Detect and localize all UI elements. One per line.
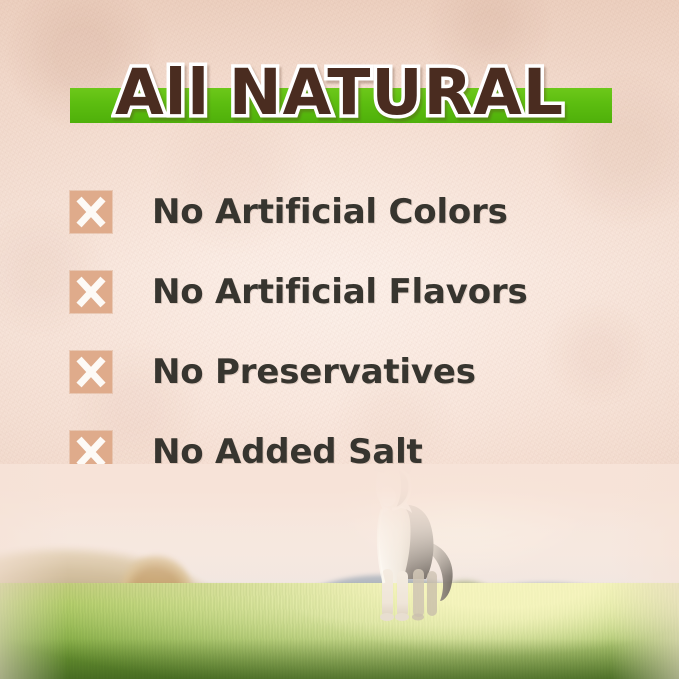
headline-word-natural: NATURAL bbox=[229, 56, 564, 129]
feature-label: No Preservatives bbox=[152, 352, 476, 392]
feature-list: No Artificial Colors No Artificial Flavo… bbox=[70, 172, 630, 492]
feature-label: No Artificial Colors bbox=[152, 192, 508, 232]
lifestyle-photo bbox=[0, 464, 679, 679]
feature-row: No Artificial Colors bbox=[70, 172, 630, 252]
headline-text: All NATURAL bbox=[0, 42, 679, 142]
photo-side-fade bbox=[0, 464, 679, 679]
x-mark-icon bbox=[70, 271, 112, 313]
feature-label: No Artificial Flavors bbox=[152, 272, 527, 312]
x-mark-icon bbox=[70, 351, 112, 393]
feature-row: No Artificial Flavors bbox=[70, 252, 630, 332]
product-feature-infographic: All NATURAL No Artificial Colors No Arti… bbox=[0, 0, 679, 679]
feature-row: No Preservatives bbox=[70, 332, 630, 412]
x-mark-icon bbox=[70, 191, 112, 233]
headline-word-all: All bbox=[115, 56, 210, 129]
headline-banner: All NATURAL bbox=[0, 42, 679, 142]
